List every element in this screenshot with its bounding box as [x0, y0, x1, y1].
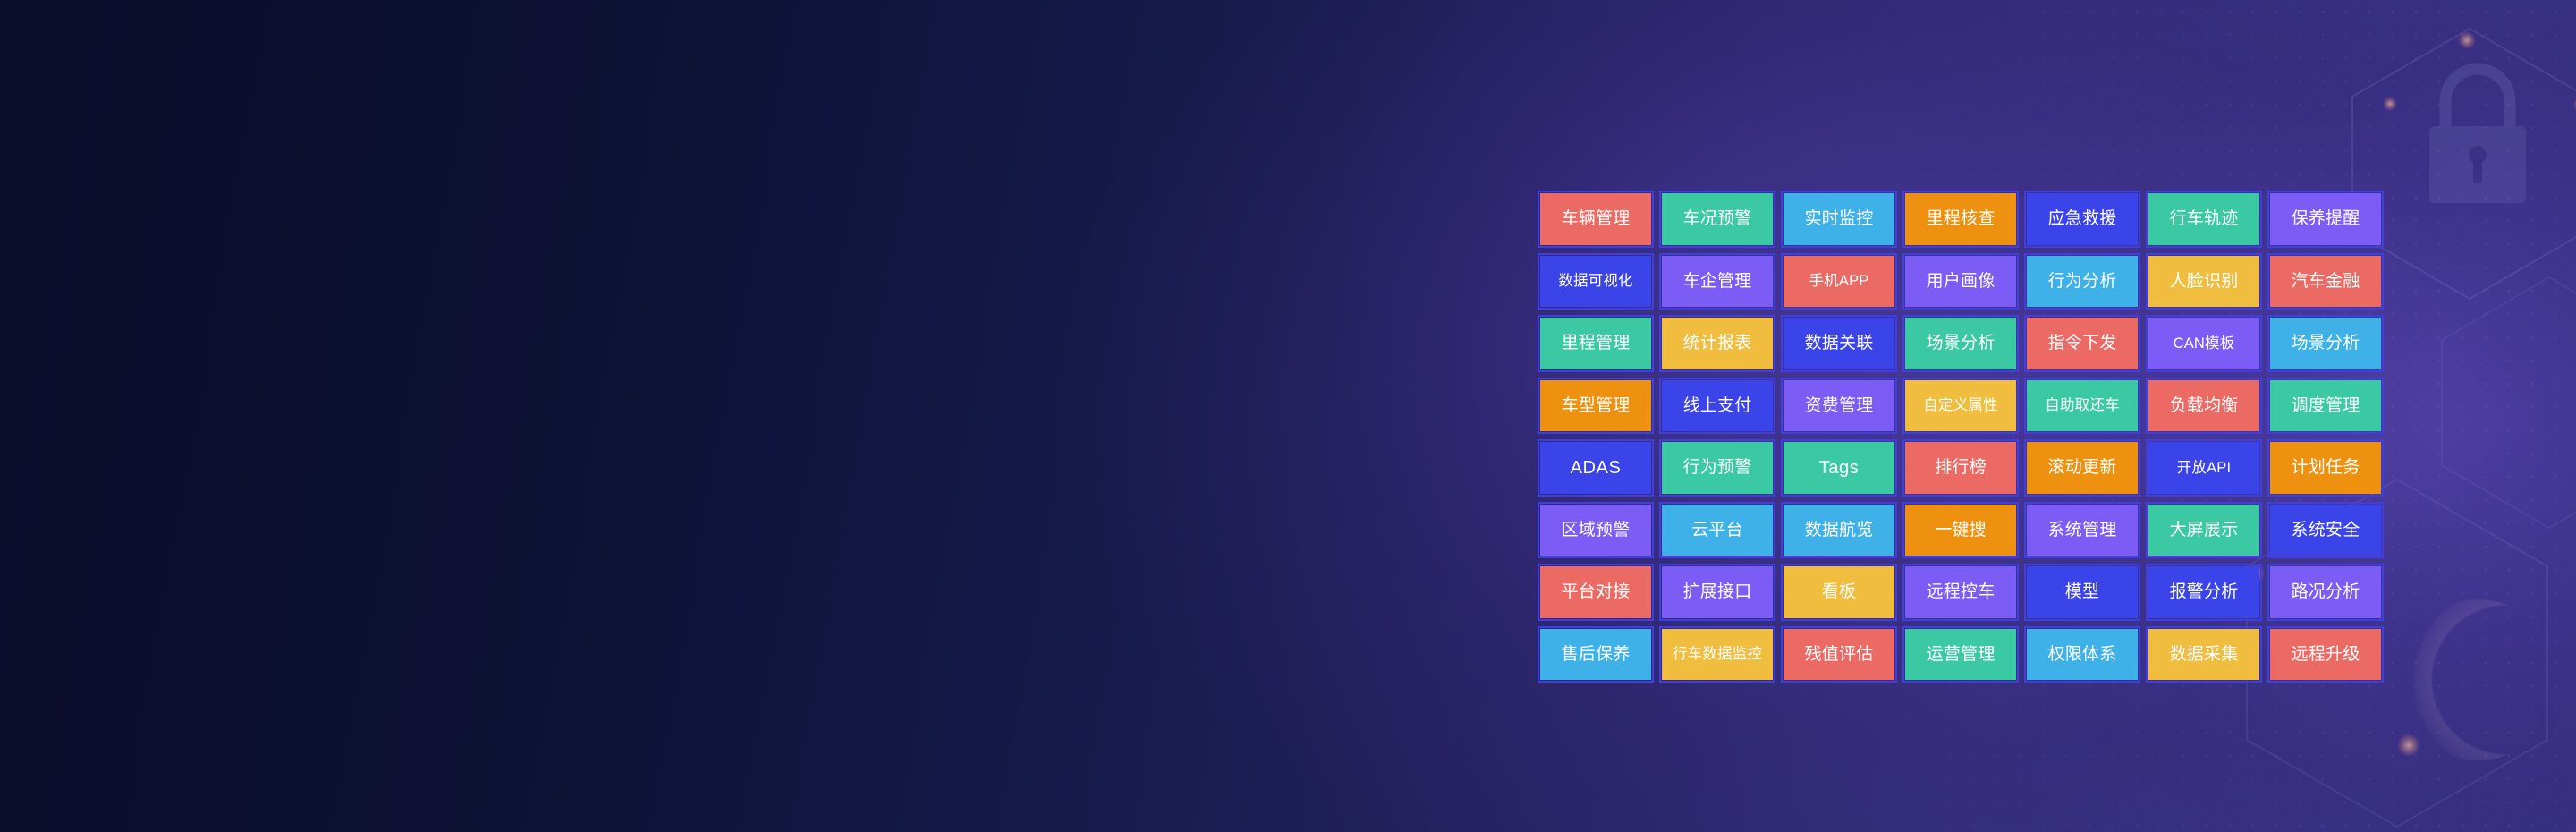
- feature-tile-cell[interactable]: 报警分析: [2143, 561, 2265, 624]
- feature-tile[interactable]: 实时监控: [1784, 193, 1894, 245]
- feature-tile[interactable]: ADAS: [1540, 442, 1651, 494]
- feature-tile[interactable]: 数据采集: [2148, 629, 2259, 681]
- feature-tile-cell[interactable]: ADAS: [1535, 437, 1657, 499]
- feature-tile[interactable]: 区域预警: [1540, 505, 1651, 556]
- feature-tile[interactable]: 人脸识别: [2148, 256, 2259, 308]
- feature-tile-cell[interactable]: 系统安全: [2265, 499, 2386, 562]
- feature-tile-cell[interactable]: 开放API: [2143, 437, 2265, 499]
- feature-tile-cell[interactable]: 里程核查: [1900, 188, 2021, 250]
- crescent-decor: [2397, 599, 2558, 760]
- feature-tile[interactable]: 看板: [1784, 566, 1894, 618]
- glow-vertex-dot: [2397, 734, 2420, 757]
- feature-tile[interactable]: 车况预警: [1662, 193, 1773, 245]
- feature-tile-cell[interactable]: 售后保养: [1535, 624, 1657, 686]
- feature-tile-cell[interactable]: 调度管理: [2265, 375, 2386, 437]
- feature-tile-cell[interactable]: 模型: [2021, 561, 2143, 624]
- feature-tile[interactable]: 线上支付: [1662, 380, 1773, 432]
- feature-tile[interactable]: 保养提醒: [2270, 193, 2381, 245]
- feature-tile[interactable]: 调度管理: [2270, 380, 2381, 432]
- feature-tile-cell[interactable]: CAN模板: [2143, 312, 2265, 375]
- feature-tile-grid: 车辆管理车况预警实时监控里程核查应急救援行车轨迹保养提醒数据可视化车企管理手机A…: [1535, 188, 2386, 685]
- feature-tile[interactable]: 行车轨迹: [2148, 193, 2259, 245]
- feature-tile-cell[interactable]: 系统管理: [2021, 499, 2143, 562]
- feature-tile-cell[interactable]: 资费管理: [1778, 375, 1900, 437]
- feature-tile[interactable]: 用户画像: [1905, 256, 2016, 308]
- feature-tile[interactable]: 平台对接: [1540, 566, 1651, 618]
- feature-tile-cell[interactable]: 线上支付: [1657, 375, 1778, 437]
- feature-tile-cell[interactable]: 权限体系: [2021, 624, 2143, 686]
- feature-tile-cell[interactable]: 一键搜: [1900, 499, 2021, 562]
- feature-tile-cell[interactable]: 场景分析: [2265, 312, 2386, 375]
- feature-tile-cell[interactable]: 指令下发: [2021, 312, 2143, 375]
- feature-tile-cell[interactable]: 滚动更新: [2021, 437, 2143, 499]
- feature-tile-cell[interactable]: 行车轨迹: [2143, 188, 2265, 250]
- feature-tile[interactable]: 系统管理: [2027, 505, 2138, 556]
- feature-tile-cell[interactable]: 远程控车: [1900, 561, 2021, 624]
- feature-tile-cell[interactable]: 数据关联: [1778, 312, 1900, 375]
- feature-tile[interactable]: 车辆管理: [1540, 193, 1651, 245]
- feature-tile[interactable]: 行为预警: [1662, 442, 1773, 494]
- feature-tile[interactable]: 手机APP: [1784, 256, 1894, 308]
- feature-tile-cell[interactable]: 自定义属性: [1900, 375, 2021, 437]
- feature-tile-cell[interactable]: 应急救援: [2021, 188, 2143, 250]
- feature-tile-cell[interactable]: 场景分析: [1900, 312, 2021, 375]
- feature-tile[interactable]: 行车数据监控: [1662, 629, 1773, 681]
- feature-tile[interactable]: Tags: [1784, 442, 1894, 494]
- feature-tile-cell[interactable]: 残值评估: [1778, 624, 1900, 686]
- feature-tile-cell[interactable]: 平台对接: [1535, 561, 1657, 624]
- feature-tile-cell[interactable]: 数据采集: [2143, 624, 2265, 686]
- feature-tile[interactable]: 扩展接口: [1662, 566, 1773, 618]
- glow-vertex-dot: [2383, 97, 2397, 111]
- feature-tile[interactable]: 模型: [2027, 566, 2138, 618]
- feature-tile-cell[interactable]: 数据航览: [1778, 499, 1900, 562]
- feature-tile-cell[interactable]: 自助取还车: [2021, 375, 2143, 437]
- feature-tile[interactable]: 开放API: [2148, 442, 2259, 494]
- feature-tile[interactable]: 数据关联: [1784, 318, 1894, 369]
- feature-tile-cell[interactable]: 大屏展示: [2143, 499, 2265, 562]
- feature-tile-cell[interactable]: 负载均衡: [2143, 375, 2265, 437]
- feature-tile-cell[interactable]: 区域预警: [1535, 499, 1657, 562]
- feature-tile[interactable]: 报警分析: [2148, 566, 2259, 618]
- feature-tile[interactable]: 自助取还车: [2027, 380, 2138, 432]
- feature-tile[interactable]: 里程核查: [1905, 193, 2016, 245]
- feature-tile[interactable]: 远程升级: [2270, 629, 2381, 681]
- feature-tile[interactable]: 远程控车: [1905, 566, 2016, 618]
- feature-tile-cell[interactable]: 云平台: [1657, 499, 1778, 562]
- feature-tile[interactable]: CAN模板: [2148, 318, 2259, 369]
- feature-tile[interactable]: 数据航览: [1784, 505, 1894, 556]
- feature-tile-cell[interactable]: 手机APP: [1778, 250, 1900, 313]
- feature-tile-cell[interactable]: 汽车金融: [2265, 250, 2386, 313]
- feature-tile[interactable]: 自定义属性: [1905, 380, 2016, 432]
- feature-tile-cell[interactable]: 行为预警: [1657, 437, 1778, 499]
- feature-tile-cell[interactable]: 保养提醒: [2265, 188, 2386, 250]
- feature-tile[interactable]: 售后保养: [1540, 629, 1651, 681]
- feature-tile[interactable]: 统计报表: [1662, 318, 1773, 369]
- feature-tile-cell[interactable]: 路况分析: [2265, 561, 2386, 624]
- feature-tile-cell[interactable]: 统计报表: [1657, 312, 1778, 375]
- feature-tile-cell[interactable]: 远程升级: [2265, 624, 2386, 686]
- feature-tile[interactable]: 系统安全: [2270, 505, 2381, 556]
- feature-tile-cell[interactable]: 行车数据监控: [1657, 624, 1778, 686]
- feature-tile-cell[interactable]: 车况预警: [1657, 188, 1778, 250]
- feature-tile[interactable]: 行为分析: [2027, 256, 2138, 308]
- feature-tile-cell[interactable]: 计划任务: [2265, 437, 2386, 499]
- feature-tile[interactable]: 里程管理: [1540, 318, 1651, 369]
- feature-tile[interactable]: 指令下发: [2027, 318, 2138, 369]
- feature-tile[interactable]: 残值评估: [1784, 629, 1894, 681]
- feature-tile[interactable]: 计划任务: [2270, 442, 2381, 494]
- feature-tile[interactable]: 负载均衡: [2148, 380, 2259, 432]
- feature-tile-cell[interactable]: 车辆管理: [1535, 188, 1657, 250]
- feature-tile[interactable]: 汽车金融: [2270, 256, 2381, 308]
- feature-tile-cell[interactable]: 运营管理: [1900, 624, 2021, 686]
- feature-tile-cell[interactable]: 看板: [1778, 561, 1900, 624]
- feature-tile[interactable]: 一键搜: [1905, 505, 2016, 556]
- lock-icon: [2406, 49, 2549, 224]
- feature-tile-cell[interactable]: Tags: [1778, 437, 1900, 499]
- feature-tile[interactable]: 排行榜: [1905, 442, 2016, 494]
- page-background: 车辆管理车况预警实时监控里程核查应急救援行车轨迹保养提醒数据可视化车企管理手机A…: [0, 0, 2576, 832]
- feature-tile-cell[interactable]: 行为分析: [2021, 250, 2143, 313]
- feature-tile[interactable]: 路况分析: [2270, 566, 2381, 618]
- feature-tile-cell[interactable]: 里程管理: [1535, 312, 1657, 375]
- feature-tile-cell[interactable]: 扩展接口: [1657, 561, 1778, 624]
- feature-tile[interactable]: 资费管理: [1784, 380, 1894, 432]
- feature-tile-cell[interactable]: 数据可视化: [1535, 250, 1657, 313]
- feature-tile[interactable]: 云平台: [1662, 505, 1773, 556]
- feature-tile-cell[interactable]: 排行榜: [1900, 437, 2021, 499]
- feature-tile[interactable]: 数据可视化: [1540, 256, 1651, 308]
- feature-tile-cell[interactable]: 实时监控: [1778, 188, 1900, 250]
- feature-tile-cell[interactable]: 人脸识别: [2143, 250, 2265, 313]
- hexagon-outline: [2415, 268, 2576, 537]
- feature-tile-cell[interactable]: 车型管理: [1535, 375, 1657, 437]
- feature-tile[interactable]: 应急救援: [2027, 193, 2138, 245]
- feature-tile[interactable]: 场景分析: [2270, 318, 2381, 369]
- feature-tile-cell[interactable]: 用户画像: [1900, 250, 2021, 313]
- feature-tile[interactable]: 大屏展示: [2148, 505, 2259, 556]
- feature-tile[interactable]: 车型管理: [1540, 380, 1651, 432]
- glow-vertex-dot: [2458, 31, 2476, 49]
- feature-tile[interactable]: 场景分析: [1905, 318, 2016, 369]
- feature-tile[interactable]: 车企管理: [1662, 256, 1773, 308]
- feature-tile-cell[interactable]: 车企管理: [1657, 250, 1778, 313]
- feature-tile[interactable]: 滚动更新: [2027, 442, 2138, 494]
- feature-tile[interactable]: 运营管理: [1905, 629, 2016, 681]
- feature-tile[interactable]: 权限体系: [2027, 629, 2138, 681]
